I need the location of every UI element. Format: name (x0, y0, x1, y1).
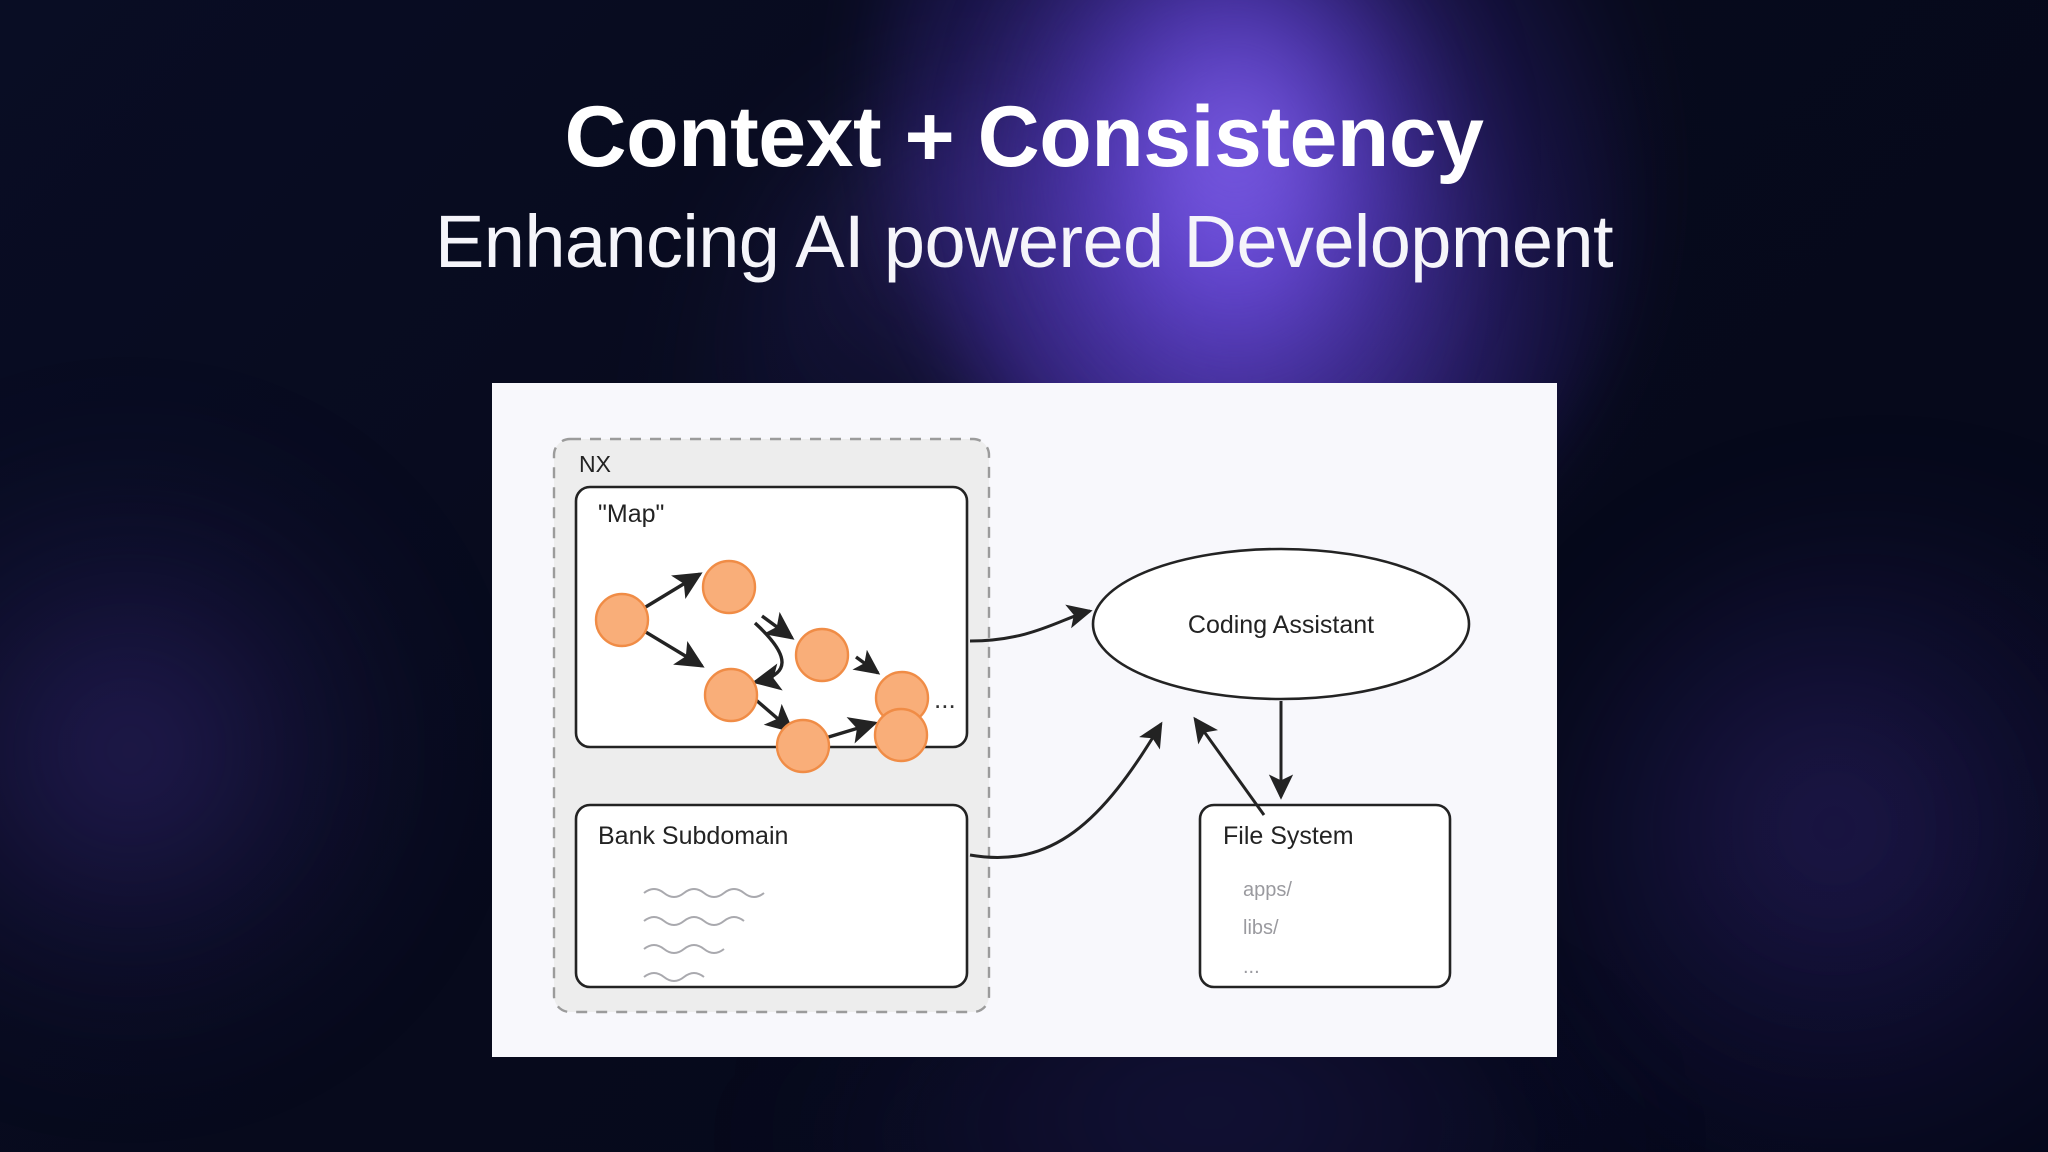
connector-bank-to-assistant (970, 724, 1161, 857)
coding-assistant-node[interactable]: Coding Assistant (1093, 549, 1469, 699)
page-title: Context + Consistency (0, 92, 2048, 183)
map-box-label: "Map" (598, 500, 664, 528)
bank-subdomain-label: Bank Subdomain (598, 822, 788, 850)
graph-node-n3 (796, 629, 848, 681)
graph-node-n4 (705, 669, 757, 721)
slide-root: Context + Consistency Enhancing AI power… (0, 0, 2048, 1152)
file-system-box[interactable]: File System apps/ libs/ ... (1200, 805, 1450, 987)
architecture-diagram: NX "Map" (492, 383, 1557, 1057)
file-system-item: apps/ (1243, 879, 1292, 901)
map-box[interactable]: "Map" (576, 487, 967, 772)
page-subtitle: Enhancing AI powered Development (0, 201, 2048, 284)
bank-subdomain-box[interactable]: Bank Subdomain (576, 805, 967, 987)
graph-node-n6 (777, 720, 829, 772)
graph-node-n7 (875, 709, 927, 761)
title-block: Context + Consistency Enhancing AI power… (0, 92, 2048, 284)
file-system-item: ... (1243, 956, 1260, 978)
nx-group-label: NX (579, 451, 611, 477)
coding-assistant-label: Coding Assistant (1188, 611, 1374, 639)
file-system-label: File System (1223, 822, 1354, 850)
file-system-item: libs/ (1243, 917, 1279, 939)
diagram-panel: NX "Map" (492, 383, 1557, 1057)
connector-filesystem-to-assistant (1195, 719, 1264, 815)
map-box-ellipsis: ... (934, 684, 956, 714)
graph-node-n1 (596, 594, 648, 646)
graph-node-n2 (703, 561, 755, 613)
